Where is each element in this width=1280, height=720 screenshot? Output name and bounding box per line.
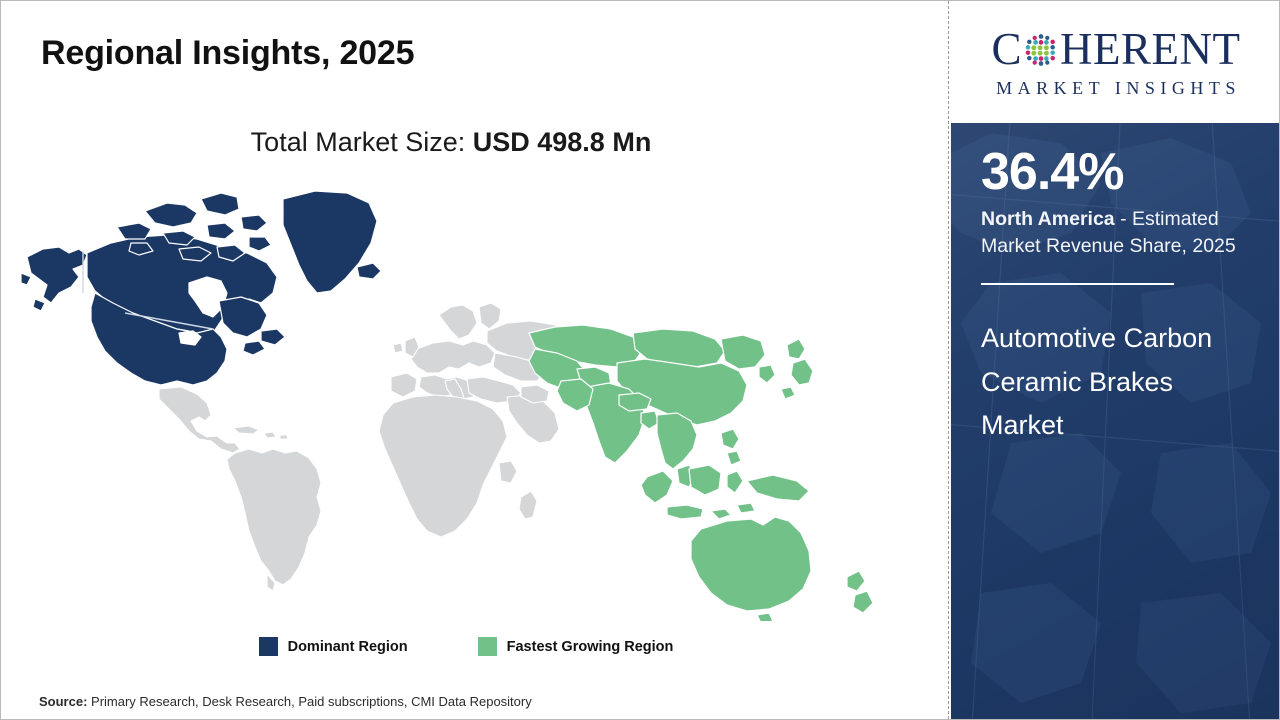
map-legend: Dominant Region Fastest Growing Region xyxy=(1,637,931,656)
source-note: Source: Primary Research, Desk Research,… xyxy=(39,694,532,709)
market-size-value: USD 498.8 Mn xyxy=(473,127,652,157)
stat-percentage: 36.4% xyxy=(981,145,1251,200)
logo-letters-rest: HERENT xyxy=(1060,27,1240,72)
world-map xyxy=(21,181,901,621)
source-text: Primary Research, Desk Research, Paid su… xyxy=(87,694,531,709)
stat-panel: 36.4% North America - Estimated Market R… xyxy=(951,123,1280,719)
market-size-prefix: Total Market Size: xyxy=(251,127,473,157)
infographic-root: Regional Insights, 2025 Total Market Siz… xyxy=(0,0,1280,720)
total-market-size: Total Market Size: USD 498.8 Mn xyxy=(1,127,901,158)
left-content-panel: Regional Insights, 2025 Total Market Siz… xyxy=(1,1,949,719)
logo-wordmark: C xyxy=(992,26,1241,74)
legend-item-dominant: Dominant Region xyxy=(259,637,408,656)
map-region-asia-pacific xyxy=(529,325,873,621)
globe-dots-icon xyxy=(1023,32,1059,68)
page-title: Regional Insights, 2025 xyxy=(41,34,414,73)
stat-description: North America - Estimated Market Revenue… xyxy=(981,206,1251,261)
stat-divider-rule xyxy=(981,283,1174,285)
legend-label-fastest-growing: Fastest Growing Region xyxy=(507,639,674,655)
logo-letter-c: C xyxy=(992,27,1023,72)
stat-region-name: North America xyxy=(981,208,1115,230)
legend-item-fastest-growing: Fastest Growing Region xyxy=(478,637,674,656)
map-region-north-america xyxy=(21,191,381,385)
legend-label-dominant: Dominant Region xyxy=(288,639,408,655)
company-logo: C xyxy=(951,1,1280,123)
source-label: Source: xyxy=(39,694,87,709)
legend-swatch-fastest-growing xyxy=(478,637,497,656)
stat-content: 36.4% North America - Estimated Market R… xyxy=(951,145,1280,448)
logo-tagline: MARKET INSIGHTS xyxy=(996,78,1241,99)
legend-swatch-dominant xyxy=(259,637,278,656)
panel-divider xyxy=(948,1,949,719)
market-report-title: Automotive Carbon Ceramic Brakes Market xyxy=(981,317,1251,448)
